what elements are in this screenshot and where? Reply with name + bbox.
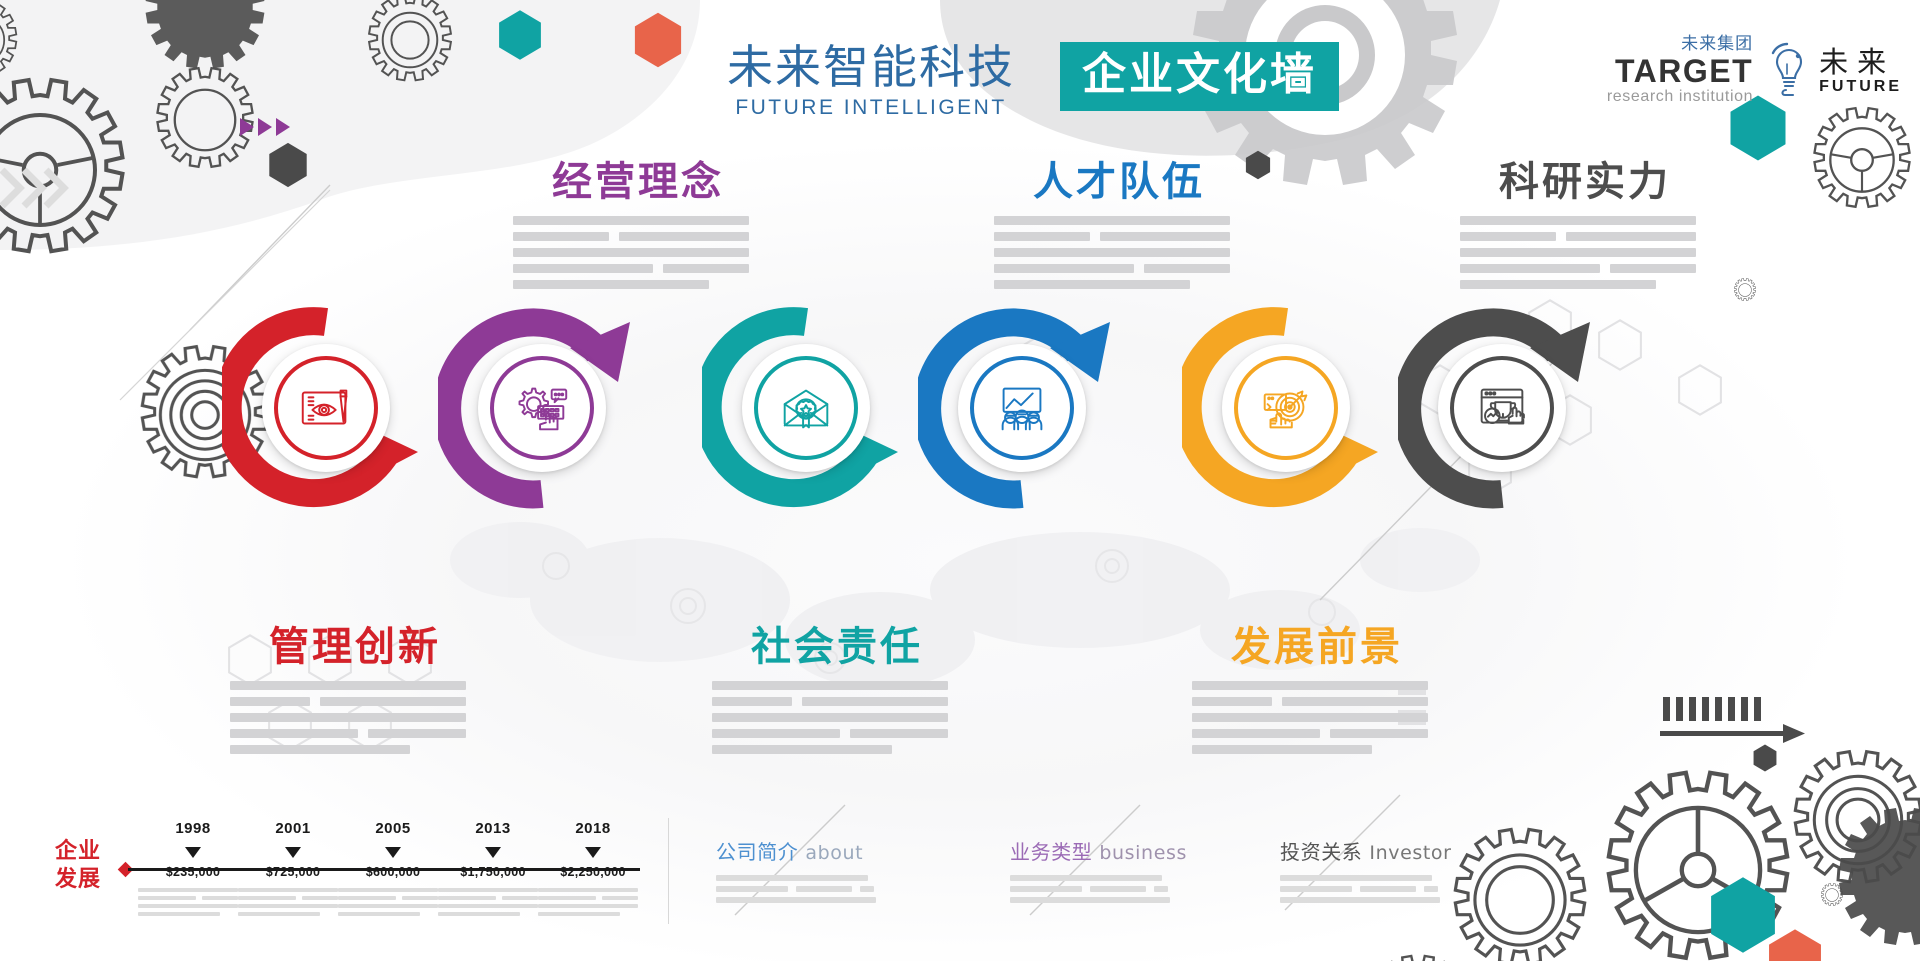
placeholder-lines (716, 875, 946, 903)
timeline-year: 1998 (138, 820, 248, 837)
timeline-year: 2013 (438, 820, 548, 837)
circle-node-keyan-shili[interactable] (1398, 304, 1606, 512)
footer-link-en: Investor (1369, 842, 1451, 864)
footer-link-text: 投资关系 Investor (1280, 836, 1510, 865)
trophy-browser-icon (1471, 377, 1533, 439)
section-title: 管理创新 (230, 625, 480, 669)
poster-header: 未来智能科技 FUTURE INTELLIGENT 企业文化墙 未来集团 TAR… (0, 0, 1920, 150)
section-title: 社会责任 (712, 625, 962, 669)
circle-node-fazhan-qianjing[interactable] (1182, 304, 1390, 512)
footer-link-en: business (1099, 842, 1187, 864)
timeline-item[interactable]: 2013 $1,750,000 (438, 820, 548, 920)
placeholder-lines (1460, 216, 1710, 289)
timeline-item[interactable]: 2001 $725,000 (238, 820, 348, 920)
timeline-amount: $235,000 (138, 865, 248, 879)
logo-mark-text: 未来 FUTURE (1819, 48, 1902, 95)
placeholder-lines (712, 681, 962, 754)
logo-mark-cn: 未来 (1819, 48, 1902, 77)
section-heading-keyan-shili: 科研实力 (1460, 160, 1710, 296)
circle-node-shehui-zeren[interactable] (702, 304, 910, 512)
timeline-marker-icon (485, 847, 501, 858)
certificate-envelope-icon (775, 377, 837, 439)
icon-disc (742, 344, 870, 472)
section-heading-guanli-chuangxin: 管理创新 (230, 625, 480, 761)
circle-node-rencai-duiwu[interactable] (918, 304, 1126, 512)
timeline-marker-icon (285, 847, 301, 858)
timeline-year: 2001 (238, 820, 348, 837)
timeline-amount: $725,000 (238, 865, 348, 879)
timeline-amount: $2,250,000 (538, 865, 648, 879)
logo-subtitle: research institution (1607, 89, 1753, 106)
footer-link-about[interactable]: 公司简介 about (716, 836, 946, 908)
footer-link-business[interactable]: 业务类型 business (1010, 836, 1240, 908)
company-logo: 未来集团 TARGET research institution (1607, 36, 1902, 106)
timeline-amount: $600,000 (338, 865, 448, 879)
section-heading-fazhan-qianjing: 发展前景 (1192, 625, 1442, 761)
brand-block: 未来智能科技 FUTURE INTELLIGENT (727, 44, 1015, 118)
footer-divider (668, 818, 669, 924)
placeholder-lines (994, 216, 1244, 289)
section-title: 科研实力 (1460, 160, 1710, 204)
icon-disc (958, 344, 1086, 472)
progress-arrow-icon (1660, 697, 1805, 743)
design-tablet-eye-icon (295, 377, 357, 439)
timeline-item[interactable]: 2018 $2,250,000 (538, 820, 648, 920)
footer-link-cn: 投资关系 (1280, 840, 1362, 864)
placeholder-lines (1280, 875, 1510, 903)
timeline-marker-icon (185, 847, 201, 858)
logo-mark: 未来 FUTURE (1767, 40, 1902, 103)
timeline-label-line2: 发展 (55, 866, 101, 894)
circle-node-jingying-linian[interactable] (438, 304, 646, 512)
placeholder-lines (538, 888, 648, 916)
section-title: 经营理念 (513, 160, 763, 204)
section-title: 人才队伍 (994, 160, 1244, 204)
section-title: 发展前景 (1192, 625, 1442, 669)
section-heading-rencai-duiwu: 人才队伍 (994, 160, 1244, 296)
company-growth-timeline: 1998 $235,000 2001 $725,000 2005 (120, 820, 640, 930)
culture-wall-poster: 未来智能科技 FUTURE INTELLIGENT 企业文化墙 未来集团 TAR… (0, 0, 1920, 961)
section-heading-shehui-zeren: 社会责任 (712, 625, 962, 761)
footer-link-text: 公司简介 about (716, 836, 946, 865)
logo-target-word: TARGET (1607, 55, 1753, 89)
timeline-label-line1: 企业 (55, 838, 101, 866)
brand-name-en: FUTURE INTELLIGENT (727, 97, 1015, 118)
timeline-marker-icon (585, 847, 601, 858)
lightbulb-icon (1767, 40, 1811, 103)
team-presentation-icon (991, 377, 1053, 439)
footer-link-en: about (805, 842, 863, 864)
footer-link-cn: 业务类型 (1010, 840, 1092, 864)
placeholder-lines (230, 681, 480, 754)
footer-link-cn: 公司简介 (716, 840, 798, 864)
target-thumbsup-icon (1255, 377, 1317, 439)
icon-disc (1222, 344, 1350, 472)
timeline-year: 2018 (538, 820, 648, 837)
circle-node-guanli-chuangxin[interactable] (222, 304, 430, 512)
timeline-label: 企业 发展 (55, 838, 101, 894)
timeline-year: 2005 (338, 820, 448, 837)
placeholder-lines (238, 888, 348, 916)
timeline-item[interactable]: 2005 $600,000 (338, 820, 448, 920)
placeholder-lines (338, 888, 448, 916)
timeline-item[interactable]: 1998 $235,000 (138, 820, 248, 920)
logo-group-name-cn: 未来集团 (1607, 36, 1753, 54)
page-title: 企业文化墙 (1060, 42, 1339, 111)
section-heading-jingying-linian: 经营理念 (513, 160, 763, 296)
footer-link-investor[interactable]: 投资关系 Investor (1280, 836, 1510, 908)
footer-link-text: 业务类型 business (1010, 836, 1240, 865)
placeholder-lines (1010, 875, 1240, 903)
placeholder-lines (1192, 681, 1442, 754)
logo-mark-en: FUTURE (1819, 79, 1902, 95)
timeline-marker-icon (385, 847, 401, 858)
placeholder-lines (138, 888, 248, 916)
process-circles-row (0, 286, 1920, 546)
icon-disc (1438, 344, 1566, 472)
icon-disc (478, 344, 606, 472)
logo-text-block: 未来集团 TARGET research institution (1607, 36, 1753, 106)
brand-name-cn: 未来智能科技 (727, 44, 1015, 90)
icon-disc (262, 344, 390, 472)
gear-keyboard-hand-icon (511, 377, 573, 439)
placeholder-lines (438, 888, 548, 916)
placeholder-lines (513, 216, 763, 289)
timeline-amount: $1,750,000 (438, 865, 548, 879)
